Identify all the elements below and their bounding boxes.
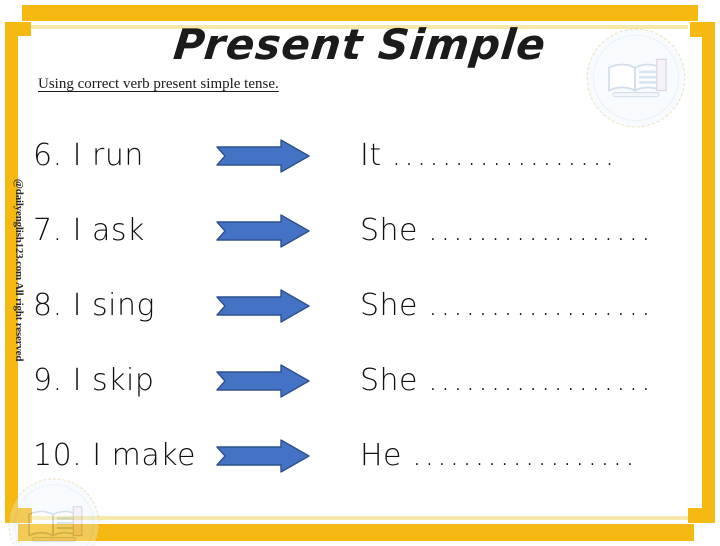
- answer-subject: She: [360, 213, 418, 248]
- right-arrow-icon: [215, 138, 360, 174]
- answer-subject: She: [360, 363, 418, 398]
- answer-blank[interactable]: ..................: [428, 288, 654, 323]
- right-arrow-icon: [215, 288, 360, 324]
- exercise-prompt: 9. I skip: [0, 363, 215, 398]
- exercise-row: 6. I run It ..................: [0, 118, 720, 193]
- exercise-prompt: 7. I ask: [0, 213, 215, 248]
- right-arrow-icon: [215, 438, 360, 474]
- frame-top-bar: [22, 5, 698, 21]
- exercise-prompt: 8. I sing: [0, 288, 215, 323]
- answer-blank[interactable]: ..................: [428, 363, 654, 398]
- page-title: Present Simple: [0, 20, 720, 69]
- answer-subject: It: [360, 138, 382, 173]
- right-arrow-icon: [215, 213, 360, 249]
- frame-bottom-bar: [18, 524, 694, 541]
- exercise-answer-line: She ..................: [360, 363, 720, 398]
- worksheet-page: @dailyenglish123.com All right reserved …: [0, 0, 720, 546]
- exercise-answer-line: He ..................: [360, 438, 720, 473]
- answer-blank[interactable]: ..................: [392, 138, 618, 173]
- exercise-list: 6. I run It .................. 7. I ask …: [0, 118, 720, 493]
- answer-subject: She: [360, 288, 418, 323]
- exercise-prompt: 10. I make: [0, 438, 215, 473]
- frame-bottom-accent-line: [22, 516, 688, 520]
- exercise-row: 8. I sing She ..................: [0, 268, 720, 343]
- exercise-answer-line: She ..................: [360, 288, 720, 323]
- exercise-answer-line: She ..................: [360, 213, 720, 248]
- exercise-answer-line: It ..................: [360, 138, 720, 173]
- exercise-prompt: 6. I run: [0, 138, 215, 173]
- exercise-row: 9. I skip She ..................: [0, 343, 720, 418]
- answer-blank[interactable]: ..................: [428, 213, 654, 248]
- exercise-row: 10. I make He ..................: [0, 418, 720, 493]
- right-arrow-icon: [215, 363, 360, 399]
- instructions-text: Using correct verb present simple tense.: [38, 76, 279, 93]
- frame-corner-bottom-right-2: [688, 508, 715, 523]
- answer-blank[interactable]: ..................: [412, 438, 638, 473]
- answer-subject: He: [360, 438, 402, 473]
- exercise-row: 7. I ask She ..................: [0, 193, 720, 268]
